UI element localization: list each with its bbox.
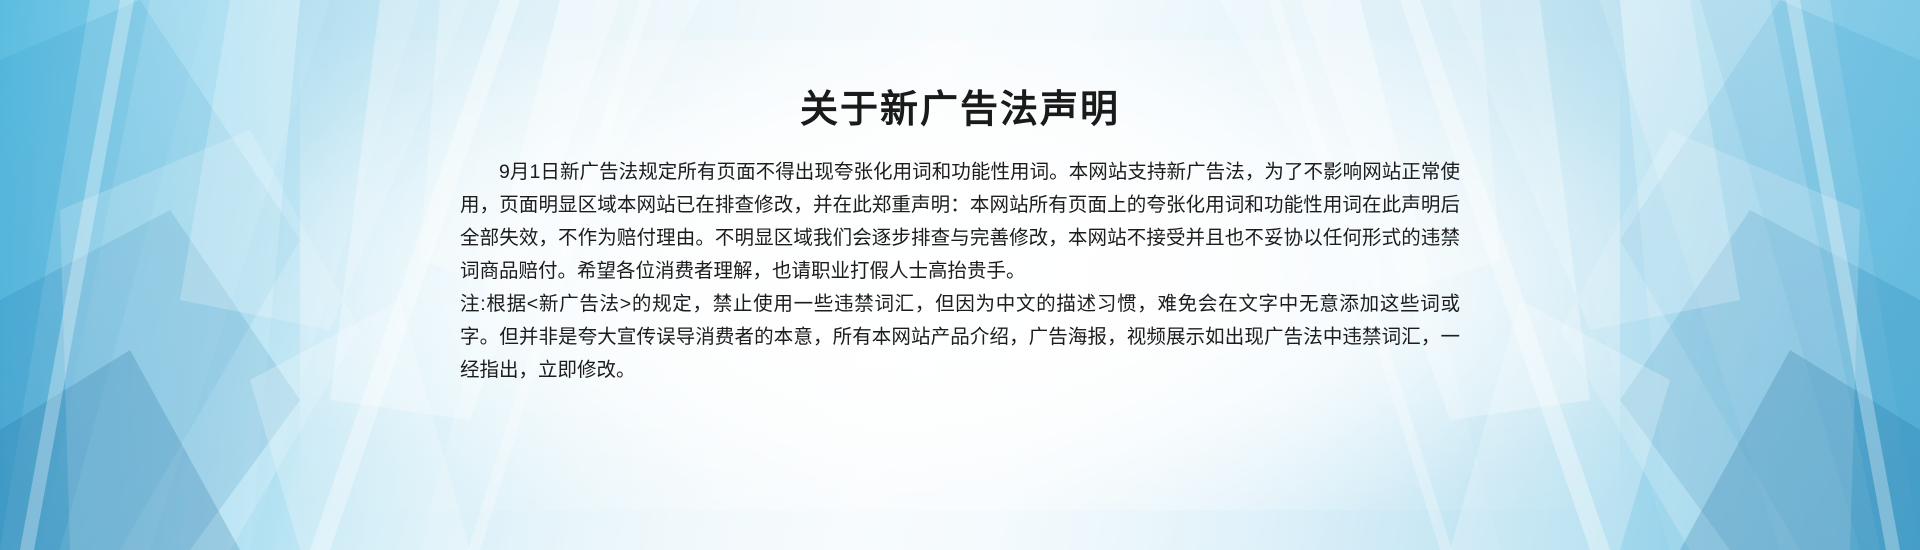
- page-title: 关于新广告法声明: [0, 88, 1920, 134]
- advertising-law-statement-banner: 关于新广告法声明 9月1日新广告法规定所有页面不得出现夸张化用词和功能性用词。本…: [0, 0, 1920, 550]
- statement-body: 9月1日新广告法规定所有页面不得出现夸张化用词和功能性用词。本网站支持新广告法，…: [460, 156, 1460, 387]
- statement-content: 关于新广告法声明 9月1日新广告法规定所有页面不得出现夸张化用词和功能性用词。本…: [0, 0, 1920, 550]
- statement-paragraph-main: 9月1日新广告法规定所有页面不得出现夸张化用词和功能性用词。本网站支持新广告法，…: [460, 156, 1460, 288]
- statement-paragraph-note: 注:根据<新广告法>的规定，禁止使用一些违禁词汇，但因为中文的描述习惯，难免会在…: [460, 288, 1460, 387]
